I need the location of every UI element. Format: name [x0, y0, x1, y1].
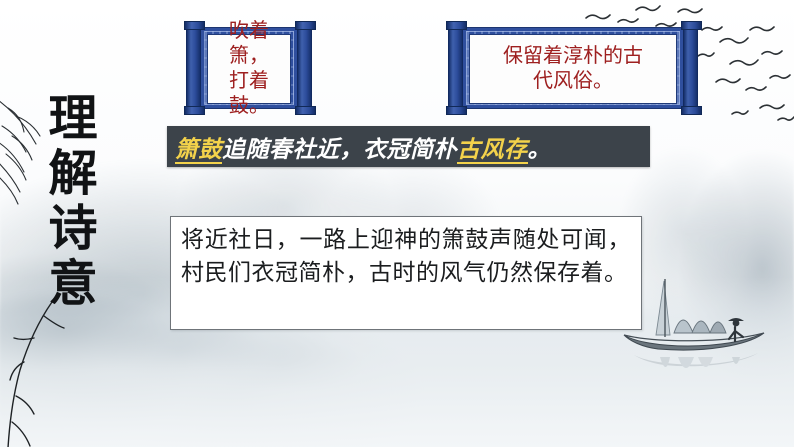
- annotation-frame-2-text: 保留着淳朴的古 代风俗。: [497, 42, 649, 96]
- poem-keyword-1: 箫鼓: [175, 137, 222, 164]
- page-title: 理 解 诗 意: [36, 94, 110, 310]
- frame-ornament-band: 吹着箫， 打着鼓。: [200, 27, 298, 109]
- annotation-frame-2: 保留着淳朴的古 代风俗。: [448, 21, 698, 115]
- frame-post-left-icon: [448, 21, 463, 115]
- annotation-frame-1: 吹着箫， 打着鼓。: [186, 21, 312, 115]
- slide-canvas: 理 解 诗 意 吹着箫， 打着鼓。 保留着淳朴的古 代风俗。: [0, 0, 794, 447]
- page-title-char-4: 意: [48, 259, 97, 310]
- annotation-frame-1-text: 吹着箫， 打着鼓。: [208, 17, 290, 122]
- page-title-char-1: 理: [48, 94, 97, 145]
- translation-box: 将近社日，一路上迎神的箫鼓声随处可闻，村民们衣冠简朴，古时的风气仍然保存着。: [170, 216, 642, 330]
- annotation-frame-2-line-1: 保留着淳朴的古: [503, 44, 643, 69]
- poem-keyword-2: 古风存: [457, 137, 528, 164]
- poem-line: 箫鼓追随春社近，衣冠简朴古风存。: [175, 130, 551, 164]
- annotation-frame-1-line-1: 吹着箫，: [214, 19, 284, 69]
- annotation-frame-2-line-2: 代风俗。: [503, 69, 643, 94]
- frame-inner-panel: 吹着箫， 打着鼓。: [207, 34, 291, 104]
- annotation-frame-1-line-2: 打着鼓。: [214, 69, 284, 119]
- poem-banner: 箫鼓追随春社近，衣冠简朴古风存。: [167, 126, 650, 167]
- page-title-char-2: 解: [48, 149, 97, 200]
- frame-post-right-icon: [297, 21, 312, 115]
- translation-text: 将近社日，一路上迎神的箫鼓声随处可闻，村民们衣冠简朴，古时的风气仍然保存着。: [181, 224, 631, 289]
- frame-inner-panel: 保留着淳朴的古 代风俗。: [469, 34, 677, 104]
- page-title-char-3: 诗: [48, 204, 97, 255]
- frame-ornament-band: 保留着淳朴的古 代风俗。: [462, 27, 684, 109]
- poem-segment-3: 衣冠简朴: [363, 137, 457, 162]
- poem-segment-2: 追随春社近，: [222, 137, 363, 162]
- frame-post-left-icon: [186, 21, 201, 115]
- poem-segment-5: 。: [528, 137, 552, 162]
- frame-post-right-icon: [683, 21, 698, 115]
